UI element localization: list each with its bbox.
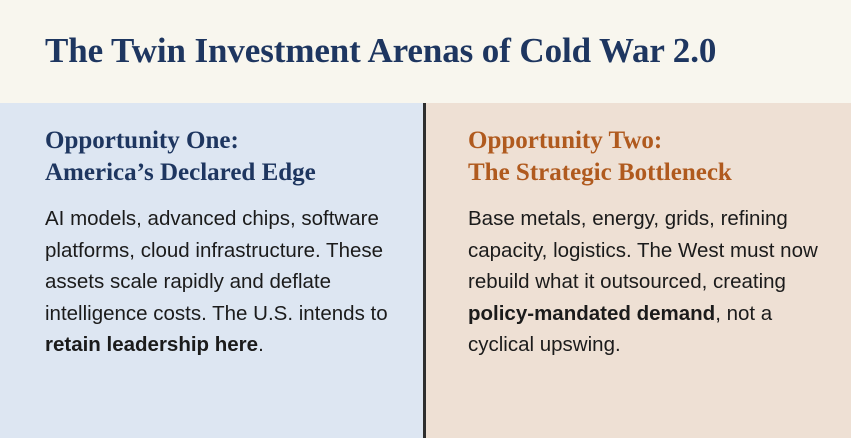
- panel-one-body: AI models, advanced chips, software plat…: [45, 203, 397, 361]
- panels-container: Opportunity One: America’s Declared Edge…: [0, 103, 851, 438]
- header-band: The Twin Investment Arenas of Cold War 2…: [0, 0, 851, 103]
- panel-opportunity-two: Opportunity Two: The Strategic Bottlenec…: [426, 103, 851, 438]
- panel-one-heading: Opportunity One: America’s Declared Edge: [45, 125, 397, 189]
- panel-two-body: Base metals, energy, grids, refining cap…: [468, 203, 818, 361]
- page-title: The Twin Investment Arenas of Cold War 2…: [45, 33, 716, 70]
- panel-two-heading: Opportunity Two: The Strategic Bottlenec…: [468, 125, 825, 189]
- panel-opportunity-one: Opportunity One: America’s Declared Edge…: [0, 103, 426, 438]
- infographic-root: The Twin Investment Arenas of Cold War 2…: [0, 0, 851, 438]
